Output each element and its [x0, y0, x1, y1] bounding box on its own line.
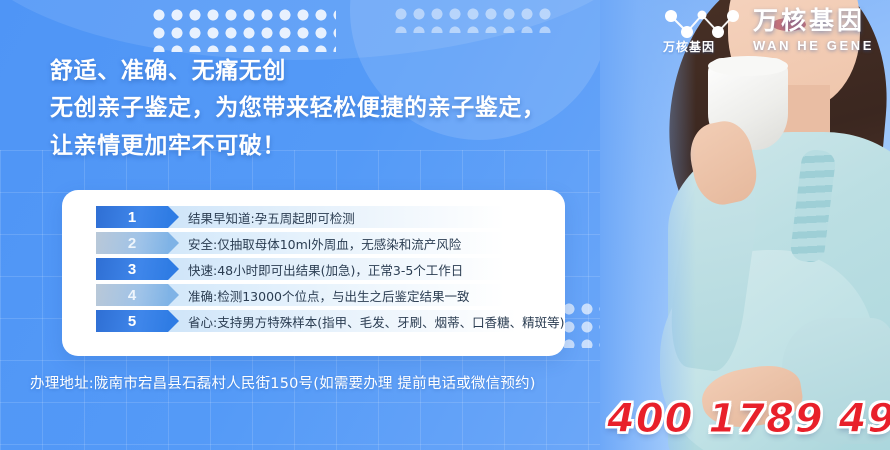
headline-line-2: 无创亲子鉴定，为您带来轻松便捷的亲子鉴定， — [50, 89, 546, 126]
list-item: 4 准确:检测13000个位点，与出生之后鉴定结果一致 — [96, 284, 551, 306]
feature-number-badge: 4 — [96, 284, 168, 306]
molecule-icon: 万核基因 — [661, 6, 743, 54]
feature-number-badge: 1 — [96, 206, 168, 228]
features-list: 1 结果早知道:孕五周起即可检测 2 安全:仅抽取母体10ml外周血，无感染和流… — [62, 206, 565, 332]
list-item: 3 快速:48小时即可出结果(加急)，正常3-5个工作日 — [96, 258, 551, 280]
dot-grid-top — [150, 6, 336, 52]
office-address: 办理地址:陇南市宕昌县石磊村人民街150号(如需要办理 提前电话或微信预约) — [30, 372, 536, 393]
promo-banner: 万核基因 万核基因 WAN HE GENE 舒适、准确、无痛无创 无创亲子鉴定，… — [0, 0, 890, 450]
list-item: 5 省心:支持男方特殊样本(指甲、毛发、牙刷、烟蒂、口香糖、精斑等) — [96, 310, 551, 332]
logo-wordmark: 万核基因 WAN HE GENE — [753, 9, 874, 52]
logo-name-cn: 万核基因 — [753, 9, 874, 34]
logo-name-en: WAN HE GENE — [753, 39, 874, 52]
photo-fade-overlay — [600, 0, 696, 450]
feature-text: 结果早知道:孕五周起即可检测 — [168, 206, 551, 228]
pregnant-woman-photo — [600, 0, 890, 450]
hotline-number[interactable]: 400 1789 498 — [607, 396, 890, 442]
mug-rim — [708, 56, 788, 76]
brand-logo[interactable]: 万核基因 万核基因 WAN HE GENE — [661, 6, 874, 54]
feature-number-badge: 3 — [96, 258, 168, 280]
feature-text: 省心:支持男方特殊样本(指甲、毛发、牙刷、烟蒂、口香糖、精斑等) — [168, 310, 564, 332]
feature-number-badge: 2 — [96, 232, 168, 254]
feature-text: 准确:检测13000个位点，与出生之后鉴定结果一致 — [168, 284, 551, 306]
dot-grid-mid — [392, 5, 552, 33]
feature-text: 安全:仅抽取母体10ml外周血，无感染和流产风险 — [168, 232, 551, 254]
headline-line-3: 让亲情更加牢不可破！ — [50, 127, 546, 164]
curved-shape — [0, 0, 660, 60]
headline: 舒适、准确、无痛无创 无创亲子鉴定，为您带来轻松便捷的亲子鉴定， 让亲情更加牢不… — [50, 52, 546, 164]
list-item: 1 结果早知道:孕五周起即可检测 — [96, 206, 551, 228]
feature-text: 快速:48小时即可出结果(加急)，正常3-5个工作日 — [168, 258, 551, 280]
logo-mark-label: 万核基因 — [663, 38, 715, 55]
list-item: 2 安全:仅抽取母体10ml外周血，无感染和流产风险 — [96, 232, 551, 254]
headline-line-1: 舒适、准确、无痛无创 — [50, 52, 546, 89]
feature-number-badge: 5 — [96, 310, 168, 332]
features-card: 1 结果早知道:孕五周起即可检测 2 安全:仅抽取母体10ml外周血，无感染和流… — [62, 190, 565, 356]
